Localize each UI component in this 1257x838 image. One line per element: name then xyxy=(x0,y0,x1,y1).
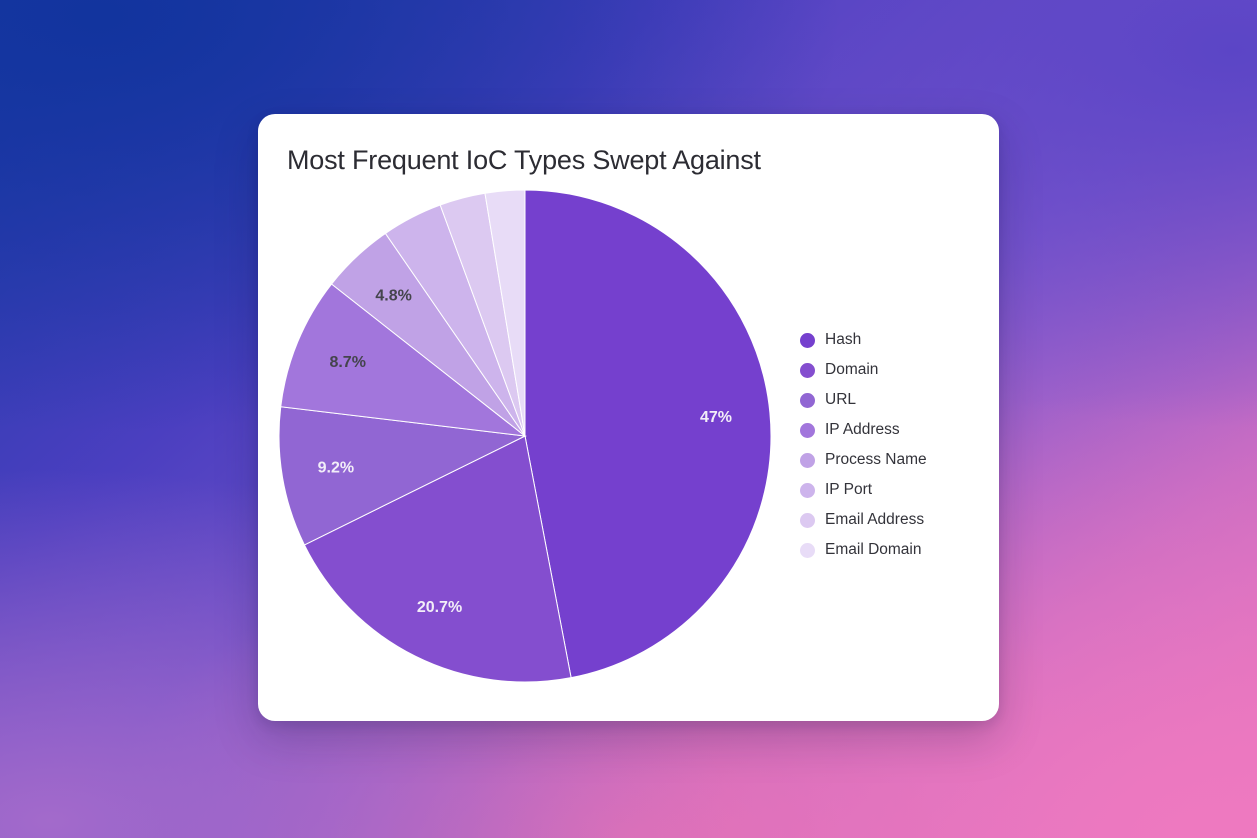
pie-slice-label: 8.7% xyxy=(329,354,365,371)
legend-color-swatch xyxy=(800,423,815,438)
legend-color-swatch xyxy=(800,363,815,378)
legend-color-swatch xyxy=(800,453,815,468)
legend-color-swatch xyxy=(800,393,815,408)
legend-color-swatch xyxy=(800,333,815,348)
legend-item-label: Email Domain xyxy=(825,542,921,558)
pie-slice-label: 20.7% xyxy=(417,599,462,616)
screen-background: Most Frequent IoC Types Swept Against 47… xyxy=(0,0,1257,838)
legend-item-label: Process Name xyxy=(825,452,927,468)
pie-slice[interactable] xyxy=(525,190,771,678)
legend-item[interactable]: Process Name xyxy=(800,445,990,475)
legend-item[interactable]: IP Address xyxy=(800,415,990,445)
pie-slice-label: 9.2% xyxy=(318,460,354,477)
legend-color-swatch xyxy=(800,483,815,498)
legend-item[interactable]: Email Address xyxy=(800,505,990,535)
legend-item-label: URL xyxy=(825,392,856,408)
legend-item[interactable]: Hash xyxy=(800,325,990,355)
legend-color-swatch xyxy=(800,513,815,528)
pie-slice-label: 4.8% xyxy=(375,287,411,304)
legend-item-label: Domain xyxy=(825,362,878,378)
legend-item-label: IP Port xyxy=(825,482,872,498)
legend-item-label: IP Address xyxy=(825,422,900,438)
legend-item-label: Email Address xyxy=(825,512,924,528)
pie-chart-svg: 47%20.7%9.2%8.7%4.8% xyxy=(275,186,775,686)
legend-item[interactable]: IP Port xyxy=(800,475,990,505)
legend-item[interactable]: URL xyxy=(800,385,990,415)
legend-item[interactable]: Email Domain xyxy=(800,535,990,565)
legend-item-label: Hash xyxy=(825,332,861,348)
chart-card: Most Frequent IoC Types Swept Against 47… xyxy=(258,114,999,721)
legend-item[interactable]: Domain xyxy=(800,355,990,385)
legend-color-swatch xyxy=(800,543,815,558)
pie-slice-label: 47% xyxy=(700,409,732,426)
pie-slice-group xyxy=(279,190,771,682)
chart-legend: HashDomainURLIP AddressProcess NameIP Po… xyxy=(800,325,990,565)
